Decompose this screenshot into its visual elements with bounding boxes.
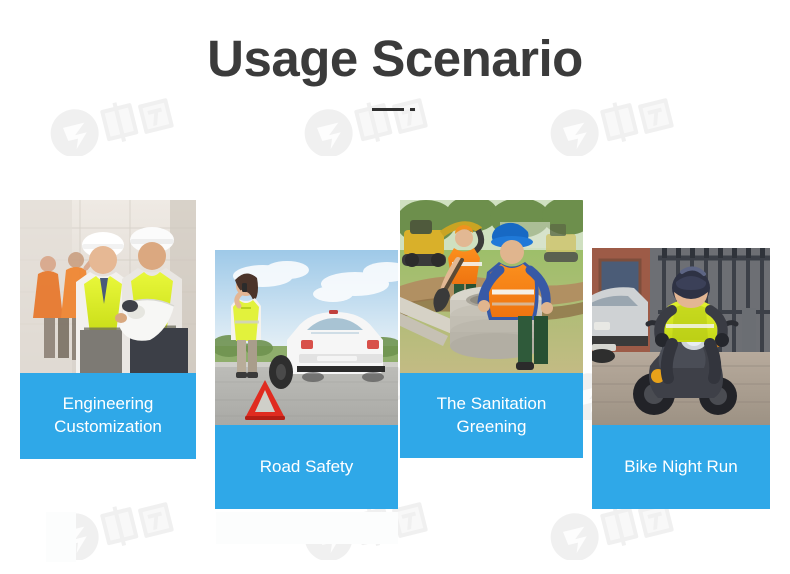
sanitation-roadworks-photo	[400, 200, 583, 373]
scenario-card-sanitation[interactable]: The Sanitation Greening	[400, 200, 583, 458]
scenario-card-bike-night-run[interactable]: Bike Night Run	[592, 248, 770, 509]
scenario-card-label: Bike Night Run	[592, 425, 770, 509]
scenario-card-label: The Sanitation Greening	[400, 373, 583, 458]
scenario-card-label: Engineering Customization	[20, 373, 196, 459]
engineering-photo-art	[20, 200, 196, 373]
roadside-breakdown-warning-triangle-photo	[215, 250, 398, 425]
scenario-card-label: Road Safety	[215, 425, 398, 509]
scenario-card-road-safety[interactable]: Road Safety	[215, 250, 398, 509]
engineering-workers-blueprint-photo	[20, 200, 196, 373]
divider-dot	[410, 108, 415, 111]
title-divider-icon	[372, 104, 418, 114]
scooter-rider-hivis-photo	[592, 248, 770, 425]
bike-night-run-photo-art	[592, 248, 770, 425]
road-safety-photo-art	[215, 250, 398, 425]
scenario-card-engineering[interactable]: Engineering Customization	[20, 200, 196, 459]
divider-bar	[372, 108, 404, 111]
page-header: Usage Scenario	[0, 0, 790, 114]
page-title: Usage Scenario	[0, 32, 790, 86]
sanitation-photo-art	[400, 200, 583, 373]
